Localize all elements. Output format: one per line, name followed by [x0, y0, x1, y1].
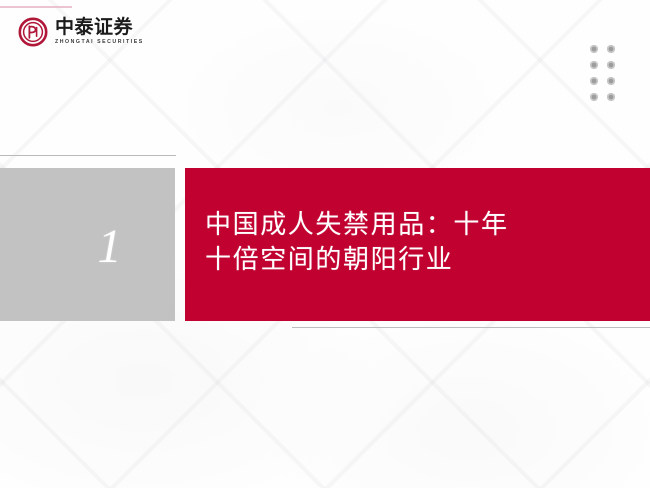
grid-dot	[607, 45, 615, 53]
divider-line-upper-left	[0, 155, 176, 156]
section-number-block: 1	[0, 168, 175, 321]
company-logo: 中泰证券 ZHONGTAI SECURITIES	[18, 17, 144, 47]
section-title-line-1: 中国成人失禁用品：十年	[205, 208, 509, 242]
section-title-block: 中国成人失禁用品：十年 十倍空间的朝阳行业	[185, 168, 650, 321]
grid-dot	[607, 61, 615, 69]
divider-line-lower-right	[292, 327, 650, 328]
grid-dot	[607, 77, 615, 85]
dot-grid-decoration	[590, 45, 615, 101]
grid-dot	[590, 45, 598, 53]
logo-company-name-en: ZHONGTAI SECURITIES	[55, 40, 144, 45]
section-title-line-2: 十倍空间的朝阳行业	[205, 243, 509, 277]
presentation-slide: 中泰证券 ZHONGTAI SECURITIES 1 中国成人失禁用品：十年 十…	[0, 0, 650, 488]
grid-dot	[590, 93, 598, 101]
section-number: 1	[98, 223, 122, 271]
grid-dot	[590, 61, 598, 69]
logo-wordmark: 中泰证券 ZHONGTAI SECURITIES	[55, 18, 144, 45]
zhongtai-emblem-icon	[18, 17, 48, 47]
grid-dot	[607, 93, 615, 101]
logo-company-name-cn: 中泰证券	[55, 18, 144, 37]
section-title-text: 中国成人失禁用品：十年 十倍空间的朝阳行业	[185, 208, 509, 281]
grid-dot	[590, 77, 598, 85]
top-accent-bar-secondary	[0, 6, 72, 8]
